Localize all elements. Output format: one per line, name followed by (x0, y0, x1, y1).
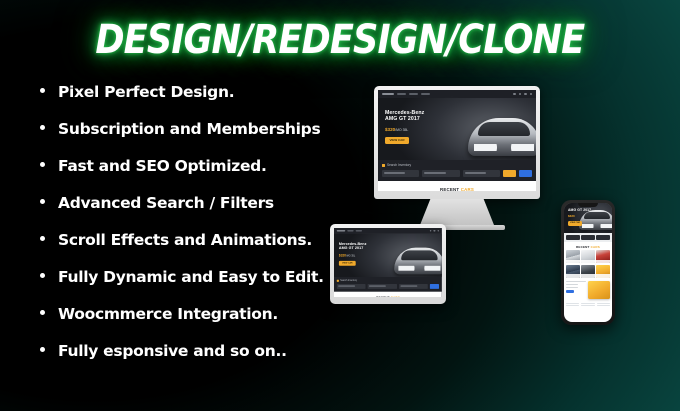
recent-heading-accent: CARS (461, 187, 474, 192)
footer-line (566, 303, 579, 304)
hero-banner: Mercedes-Benz AMG GT 2017 $320/MO 35L VI… (378, 98, 536, 160)
bullet-dot-icon (40, 347, 45, 352)
feature-list: Pixel Perfect Design. Subscription and M… (40, 83, 370, 379)
site-navbar (378, 90, 536, 98)
text-line (566, 281, 586, 283)
list-item: Fully Dynamic and Easy to Edit. (40, 268, 370, 305)
mobile-detail-row (564, 278, 612, 299)
search-model-select[interactable] (368, 284, 397, 289)
footer-column (597, 303, 610, 308)
car-card[interactable] (566, 250, 580, 263)
mobile-detail-text (566, 281, 586, 299)
hero-price-value: $320 (385, 127, 395, 132)
hero-text-block: Mercedes-Benz AMG GT 2017 $320/MO 35L VI… (385, 110, 424, 144)
hero-cta-button[interactable]: VIEW CAR (385, 137, 409, 144)
hero-price-sub: /MO 35L (395, 128, 408, 132)
list-item: Subscription and Memberships (40, 120, 370, 157)
footer-column (566, 303, 579, 308)
search-make-select[interactable] (382, 170, 419, 177)
search-advanced-button[interactable] (519, 170, 532, 177)
car-website-preview-mobile: AMG GT 2017 $320 VIEW CAR (564, 203, 612, 322)
footer-column (581, 303, 594, 308)
text-line (566, 284, 578, 286)
list-item: Scroll Effects and Animations. (40, 231, 370, 268)
mobile-cta-button[interactable] (566, 290, 574, 293)
page-title: DESIGN/REDESIGN/CLONE (96, 18, 585, 62)
mobile-car-grid (564, 250, 612, 278)
monitor-screen: Mercedes-Benz AMG GT 2017 $320/MO 35L VI… (378, 90, 536, 191)
filter-tab[interactable] (566, 235, 580, 240)
feature-label: Fully Dynamic and Easy to Edit. (58, 268, 324, 286)
nav-link (421, 93, 430, 95)
search-fields-row (382, 170, 532, 177)
feature-label: Scroll Effects and Animations. (58, 231, 312, 249)
phone-notch (578, 203, 598, 207)
list-item: Fully esponsive and so on.. (40, 342, 370, 379)
gig-thumbnail-canvas: DESIGN/REDESIGN/CLONE Pixel Perfect Desi… (0, 0, 680, 411)
hero-car-image (468, 118, 536, 156)
phone-frame: AMG GT 2017 $320 VIEW CAR (561, 200, 615, 325)
search-submit-button[interactable] (503, 170, 516, 177)
mobile-footer (564, 299, 612, 308)
nav-link (397, 93, 406, 95)
car-card-caption (566, 274, 580, 278)
search-icon (382, 164, 385, 167)
hero-car-image (395, 248, 442, 275)
desktop-monitor-mockup: Mercedes-Benz AMG GT 2017 $320/MO 35L VI… (374, 86, 540, 230)
list-item: Advanced Search / Filters (40, 194, 370, 231)
hero-cta-label: VIEW CAR (390, 138, 405, 142)
text-line (566, 287, 578, 289)
search-submit-button[interactable] (430, 284, 439, 289)
smartphone-mockup: AMG GT 2017 $320 VIEW CAR (561, 200, 615, 325)
car-card[interactable] (581, 265, 595, 278)
social-icon (519, 93, 522, 96)
recent-cars-section: RECENT CARS (564, 242, 612, 250)
search-label-text: Search Inventory (387, 163, 411, 167)
recent-heading: RECENT CARS (378, 187, 536, 192)
list-item: Woocmmerce Integration. (40, 305, 370, 342)
recent-heading-main: RECENT (376, 296, 389, 297)
hero-cta-button[interactable]: VIEW CAR (568, 221, 582, 226)
bullet-dot-icon (40, 310, 45, 315)
footer-line (566, 305, 579, 306)
social-icon (434, 230, 436, 232)
hero-price: $320/MO 35L (385, 127, 424, 132)
car-card[interactable] (596, 250, 610, 263)
car-card-caption (596, 260, 610, 264)
hero-price-value: $320 (568, 214, 575, 218)
social-icon (530, 93, 533, 96)
recent-heading-main: RECENT (576, 245, 590, 249)
phone-screen: AMG GT 2017 $320 VIEW CAR (564, 203, 612, 322)
feature-label: Advanced Search / Filters (58, 194, 274, 212)
hero-price: $320 (568, 214, 591, 218)
feature-label: Fully esponsive and so on.. (58, 342, 287, 360)
social-icon (524, 93, 527, 96)
hero-banner: AMG GT 2017 $320 VIEW CAR (564, 203, 612, 233)
bullet-dot-icon (40, 125, 45, 130)
car-card-caption (566, 260, 580, 264)
title-banner: DESIGN/REDESIGN/CLONE (0, 18, 680, 62)
monitor-bezel: Mercedes-Benz AMG GT 2017 $320/MO 35L VI… (374, 86, 540, 199)
filter-tab[interactable] (581, 235, 595, 240)
list-item: Fast and SEO Optimized. (40, 157, 370, 194)
feature-label: Fast and SEO Optimized. (58, 157, 267, 175)
bullet-dot-icon (40, 162, 45, 167)
bullet-dot-icon (40, 273, 45, 278)
car-card[interactable] (596, 265, 610, 278)
recent-heading-accent: CARS (391, 296, 400, 297)
feature-label: Woocmmerce Integration. (58, 305, 278, 323)
search-model-select[interactable] (422, 170, 459, 177)
footer-line (597, 305, 610, 306)
search-price-select[interactable] (463, 170, 500, 177)
monitor-stand-neck (420, 199, 494, 225)
hero-text-block: AMG GT 2017 $320 VIEW CAR (568, 208, 591, 226)
social-icon (513, 93, 516, 96)
car-card-caption (581, 274, 595, 278)
footer-line (581, 305, 594, 306)
car-card[interactable] (581, 250, 595, 263)
bullet-dot-icon (40, 199, 45, 204)
mobile-promo-card[interactable] (588, 281, 610, 299)
list-item: Pixel Perfect Design. (40, 83, 370, 120)
footer-line (581, 303, 594, 304)
recent-heading-accent: CARS (591, 245, 600, 249)
hero-headline-line2: AMG GT 2017 (385, 116, 424, 122)
footer-line (597, 303, 610, 304)
site-logo (382, 93, 394, 96)
hero-headline-line1: AMG GT 2017 (568, 208, 591, 212)
social-icon (430, 230, 432, 232)
car-card-caption (596, 274, 610, 278)
feature-label: Pixel Perfect Design. (58, 83, 234, 101)
filter-tab[interactable] (596, 235, 610, 240)
hero-cta-label: VIEW CAR (570, 222, 580, 224)
car-website-preview: Mercedes-Benz AMG GT 2017 $320/MO 35L VI… (378, 90, 536, 191)
inventory-search-bar: Search Inventory (378, 160, 536, 181)
nav-link (409, 93, 418, 95)
bullet-dot-icon (40, 88, 45, 93)
search-label: Search Inventory (382, 163, 532, 167)
bullet-dot-icon (40, 236, 45, 241)
recent-heading-main: RECENT (440, 187, 459, 192)
feature-label: Subscription and Memberships (58, 120, 320, 138)
search-price-select[interactable] (399, 284, 428, 289)
recent-heading: RECENT CARS (564, 245, 612, 249)
car-card[interactable] (566, 265, 580, 278)
mobile-filter-tabs (564, 233, 612, 242)
social-icon (438, 230, 440, 232)
car-card-caption (581, 260, 595, 264)
recent-cars-section: RECENT CARS Explore the best, most recen… (378, 181, 536, 192)
